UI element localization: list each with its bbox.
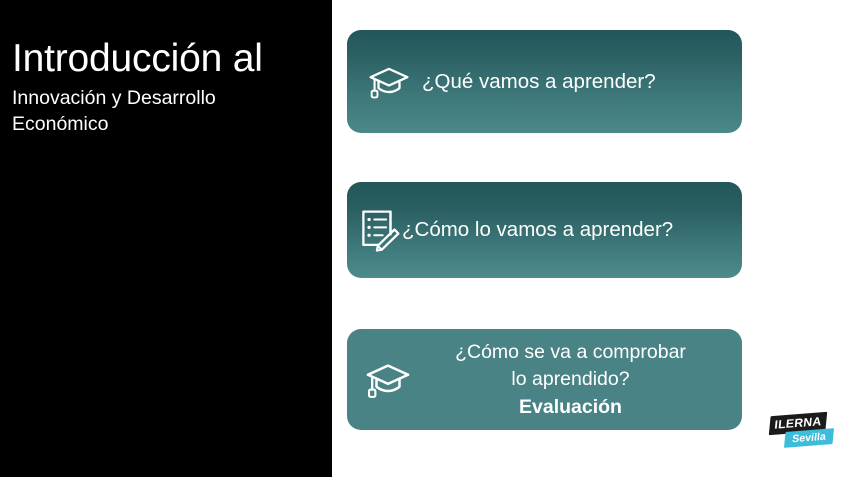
topic-line-2: lo aprendido? (413, 366, 728, 393)
notepad-pencil-icon (359, 208, 401, 252)
ilerna-sevilla-logo: ILERNA Sevilla (770, 414, 834, 450)
graduation-cap-icon (368, 61, 410, 103)
topic-label: ¿Cómo lo vamos a aprender? (402, 218, 673, 242)
topic-text-block: ¿Cómo se va a comprobar lo aprendido? Ev… (413, 339, 728, 421)
topic-box-evaluation[interactable]: ¿Cómo se va a comprobar lo aprendido? Ev… (347, 329, 742, 430)
topic-label: ¿Qué vamos a aprender? (422, 70, 656, 94)
title-panel: Introducción al Innovación y Desarrollo … (0, 0, 332, 477)
page-title: Introducción al (12, 36, 322, 82)
content-panel: ¿Qué vamos a aprender? ¿Cómo lo vamos a … (332, 0, 848, 477)
logo-secondary-text: Sevilla (784, 428, 834, 448)
page-subtitle: Innovación y Desarrollo Económico (12, 85, 277, 137)
topic-line-1: ¿Cómo se va a comprobar (413, 339, 728, 366)
topic-box-what-we-learn[interactable]: ¿Qué vamos a aprender? (347, 30, 742, 133)
graduation-cap-icon (365, 357, 411, 403)
topic-line-3-emphasis: Evaluación (413, 393, 728, 421)
topic-box-how-we-learn[interactable]: ¿Cómo lo vamos a aprender? (347, 182, 742, 278)
title-block: Introducción al Innovación y Desarrollo … (12, 36, 322, 137)
